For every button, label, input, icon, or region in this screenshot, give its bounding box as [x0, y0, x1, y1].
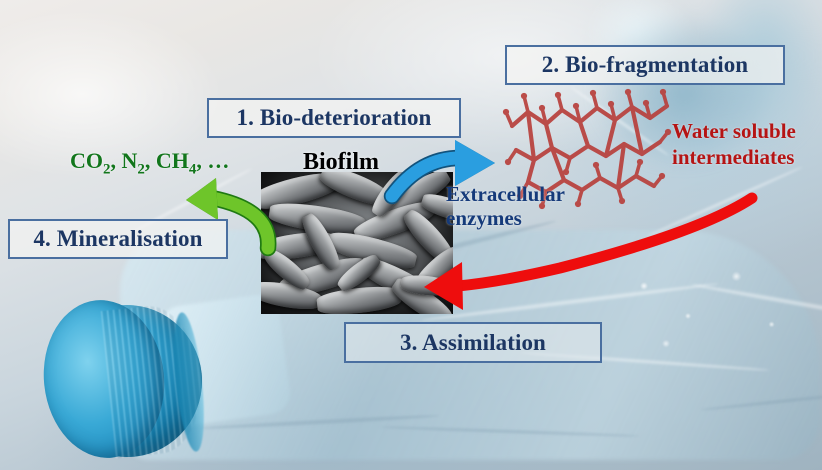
green-arrow-head [186, 178, 218, 220]
molecule-atom [563, 169, 569, 175]
stage-label-bio-fragmentation[interactable]: 2. Bio-fragmentation [505, 45, 785, 85]
molecule-atom [665, 129, 671, 135]
stage-label-assimilation[interactable]: 3. Assimilation [344, 322, 602, 363]
formula-sep-1: , [110, 148, 121, 173]
enzymes-line-2: enzymes [446, 207, 565, 231]
water-soluble-intermediates-label: Water soluble intermediates [672, 118, 796, 171]
molecule-atom [643, 100, 649, 106]
molecule-atom [625, 89, 631, 95]
intermediates-line-2: intermediates [672, 144, 796, 170]
stage-label-mineralisation[interactable]: 4. Mineralisation [8, 219, 228, 259]
intermediates-line-1: Water soluble [672, 118, 796, 144]
extracellular-enzymes-label: Extracellular enzymes [446, 183, 565, 230]
molecule-bond [546, 124, 552, 148]
mineralisation-products-formula: CO2, N2, CH4, … [70, 148, 229, 178]
molecule-atom [660, 89, 666, 95]
stage-1-text: 1. Bio-deterioration [237, 105, 432, 131]
molecule-atom [593, 162, 599, 168]
molecule-atom [555, 92, 561, 98]
molecule-atom [619, 198, 625, 204]
stage-label-bio-deterioration[interactable]: 1. Bio-deterioration [207, 98, 461, 138]
molecule-atom [608, 101, 614, 107]
molecule-bond [512, 106, 667, 126]
molecule-atom [503, 109, 509, 115]
molecule-atom [637, 159, 643, 165]
formula-sep-2: , [145, 148, 156, 173]
molecule-bond [618, 144, 624, 188]
blue-arrow-head-fill [455, 140, 495, 186]
molecule-atom [590, 90, 596, 96]
stage-2-text: 2. Bio-fragmentation [542, 52, 748, 78]
ch4-formula: CH [156, 148, 189, 173]
formula-ellipsis: , … [196, 148, 229, 173]
n2-formula: N [121, 148, 137, 173]
molecule-atom [521, 93, 527, 99]
blue-arrow-head [455, 140, 495, 186]
stage-4-text: 4. Mineralisation [33, 226, 202, 252]
n2-subscript: 2 [137, 161, 144, 177]
molecule-atom [505, 159, 511, 165]
molecule-atom [575, 201, 581, 207]
molecule-bond [580, 122, 588, 146]
molecule-atom [573, 103, 579, 109]
stage-3-text: 3. Assimilation [400, 330, 546, 356]
green-arrow-head-fill [186, 178, 218, 220]
molecule-atom [659, 173, 665, 179]
biofilm-label: Biofilm [303, 149, 379, 176]
molecule-bond [528, 112, 534, 160]
co2-formula: CO [70, 148, 103, 173]
figure-canvas: 1. Bio-deterioration 2. Bio-fragmentatio… [0, 0, 822, 470]
molecule-atom [539, 105, 545, 111]
enzymes-line-1: Extracellular [446, 183, 565, 207]
red-arrow-head [424, 262, 463, 310]
